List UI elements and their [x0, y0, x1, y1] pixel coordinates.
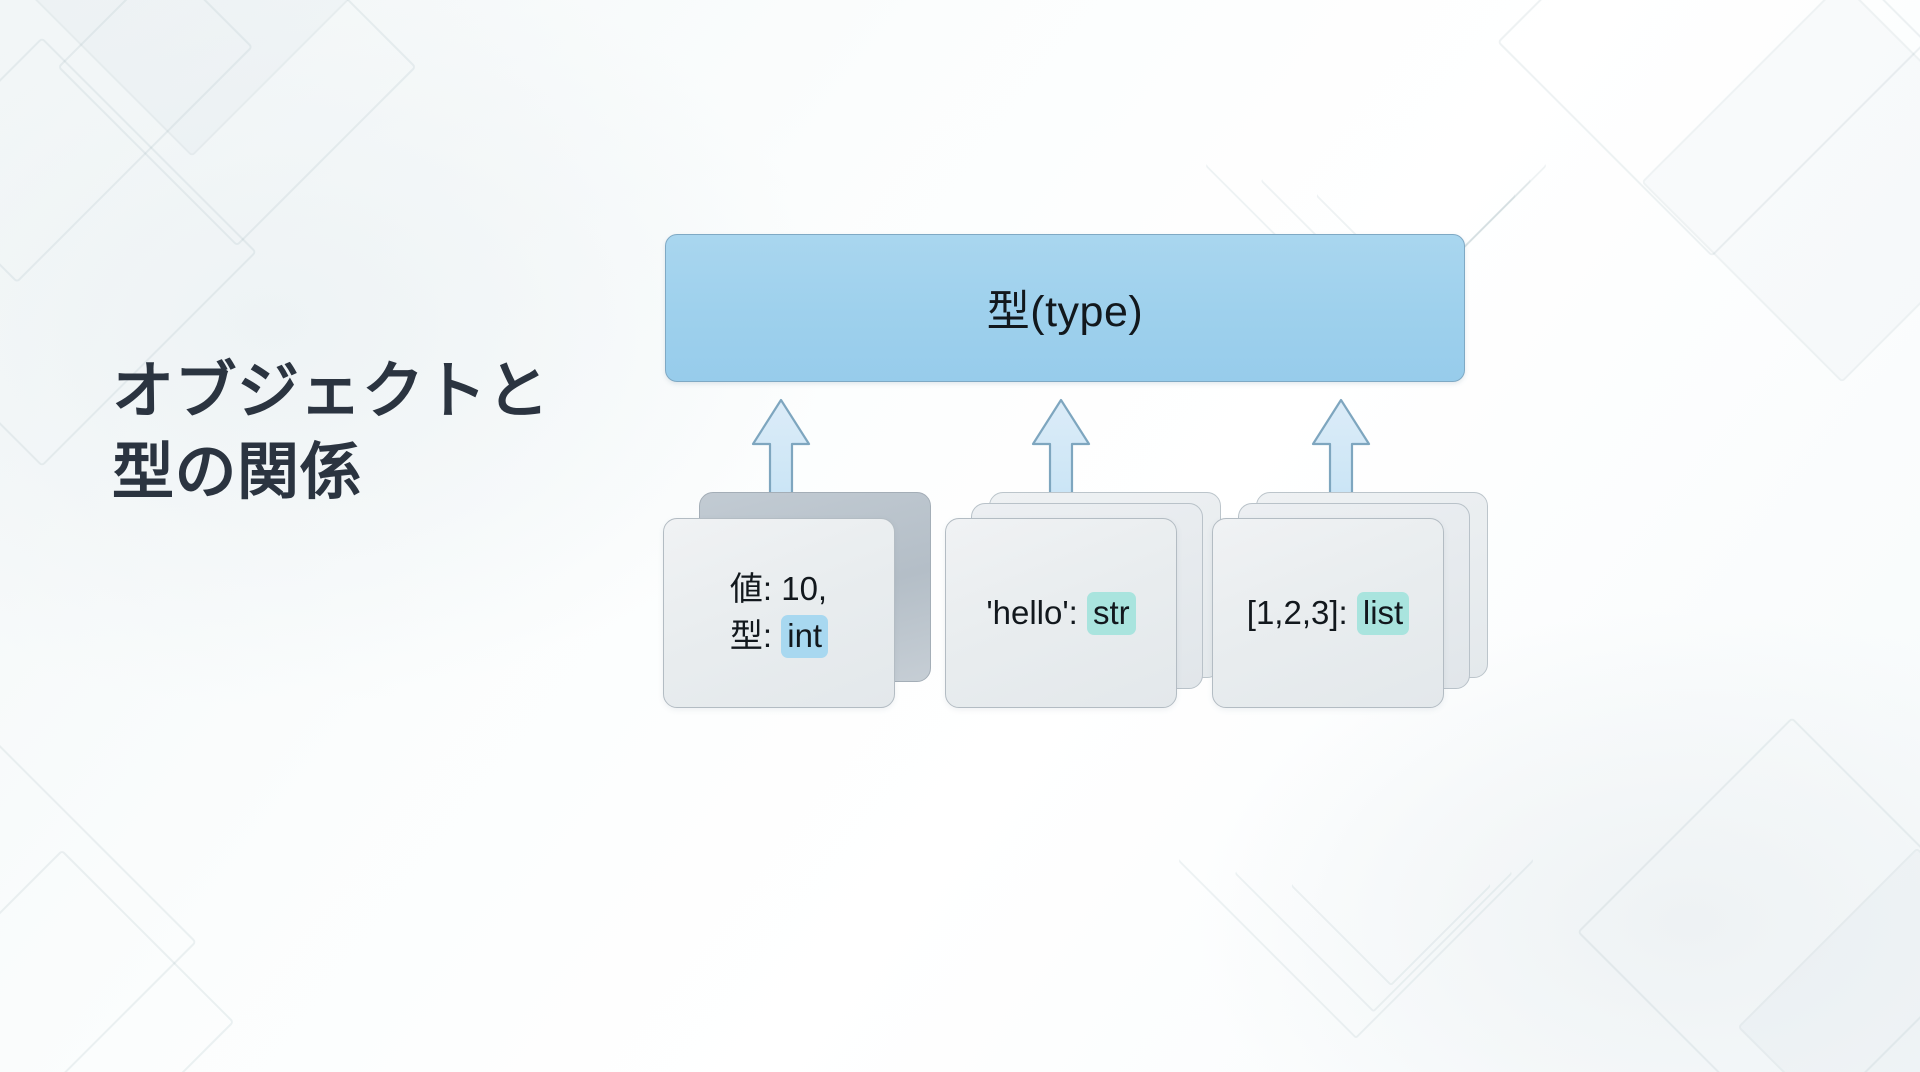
slide-canvas: オブジェクトと 型の関係 型(type) 値:	[0, 0, 1920, 1072]
object-card-list[interactable]: [1,2,3]: list	[1212, 518, 1444, 708]
background-square-10	[0, 849, 235, 1072]
object-card-line1: 値: 10,	[730, 570, 827, 607]
object-card-group-str: 'hello': str	[945, 492, 1177, 692]
page-title: オブジェクトと 型の関係	[112, 352, 672, 513]
type-banner-label: 型(type)	[987, 277, 1143, 339]
background-square-3	[57, 0, 416, 247]
background-square-8	[1737, 847, 1920, 1072]
background-chevron-5	[1234, 734, 1513, 1013]
type-name-badge: list	[1357, 592, 1409, 635]
object-card-group-int: 値: 10,型: int	[663, 492, 895, 692]
background-chevron-4	[1178, 683, 1534, 1039]
type-banner: 型(type)	[665, 234, 1465, 382]
background-square-7	[1577, 717, 1920, 1072]
object-card-str[interactable]: 'hello': str	[945, 518, 1177, 708]
background-square-1	[0, 0, 253, 283]
object-card-int[interactable]: 値: 10,型: int	[663, 518, 895, 708]
object-card-text: [1,2,3]: list	[1233, 590, 1423, 637]
background-square-6	[1641, 0, 1920, 383]
object-card-line2-prefix: 'hello':	[986, 594, 1087, 631]
type-name-badge: int	[781, 615, 828, 658]
background-square-9	[0, 727, 197, 1072]
background-square-2	[0, 0, 407, 157]
object-card-text: 'hello': str	[972, 590, 1149, 637]
background-square-5	[1497, 0, 1920, 257]
object-card-line2-prefix: 型:	[730, 617, 781, 654]
background-chevron-6	[1291, 786, 1492, 987]
object-card-text: 値: 10,型: int	[716, 566, 842, 660]
object-card-line2-prefix: [1,2,3]:	[1247, 594, 1357, 631]
object-card-group-list: [1,2,3]: list	[1212, 492, 1444, 692]
type-name-badge: str	[1087, 592, 1136, 635]
